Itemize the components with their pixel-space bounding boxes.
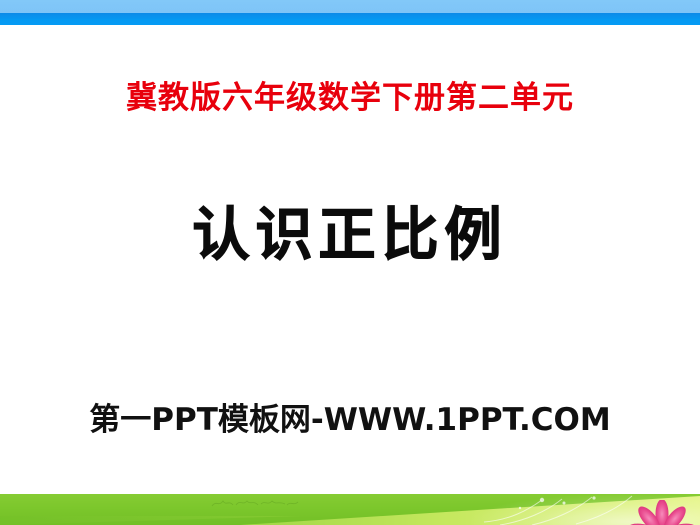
pink-flower-icon [620, 500, 698, 525]
band-texture-icon [210, 497, 300, 509]
top-accent-bar-light-icon [0, 0, 700, 13]
footer-watermark-text: 第一PPT模板网-WWW.1PPT.COM [0, 400, 700, 440]
unit-heading: 冀教版六年级数学下册第二单元 [0, 78, 700, 118]
lesson-title: 认识正比例 [0, 198, 700, 272]
presentation-slide: 冀教版六年级数学下册第二单元 认识正比例 第一PPT模板网-WWW.1PPT.C… [0, 0, 700, 525]
footer-green-band [0, 494, 700, 525]
top-accent-bar-dark-icon [0, 13, 700, 25]
